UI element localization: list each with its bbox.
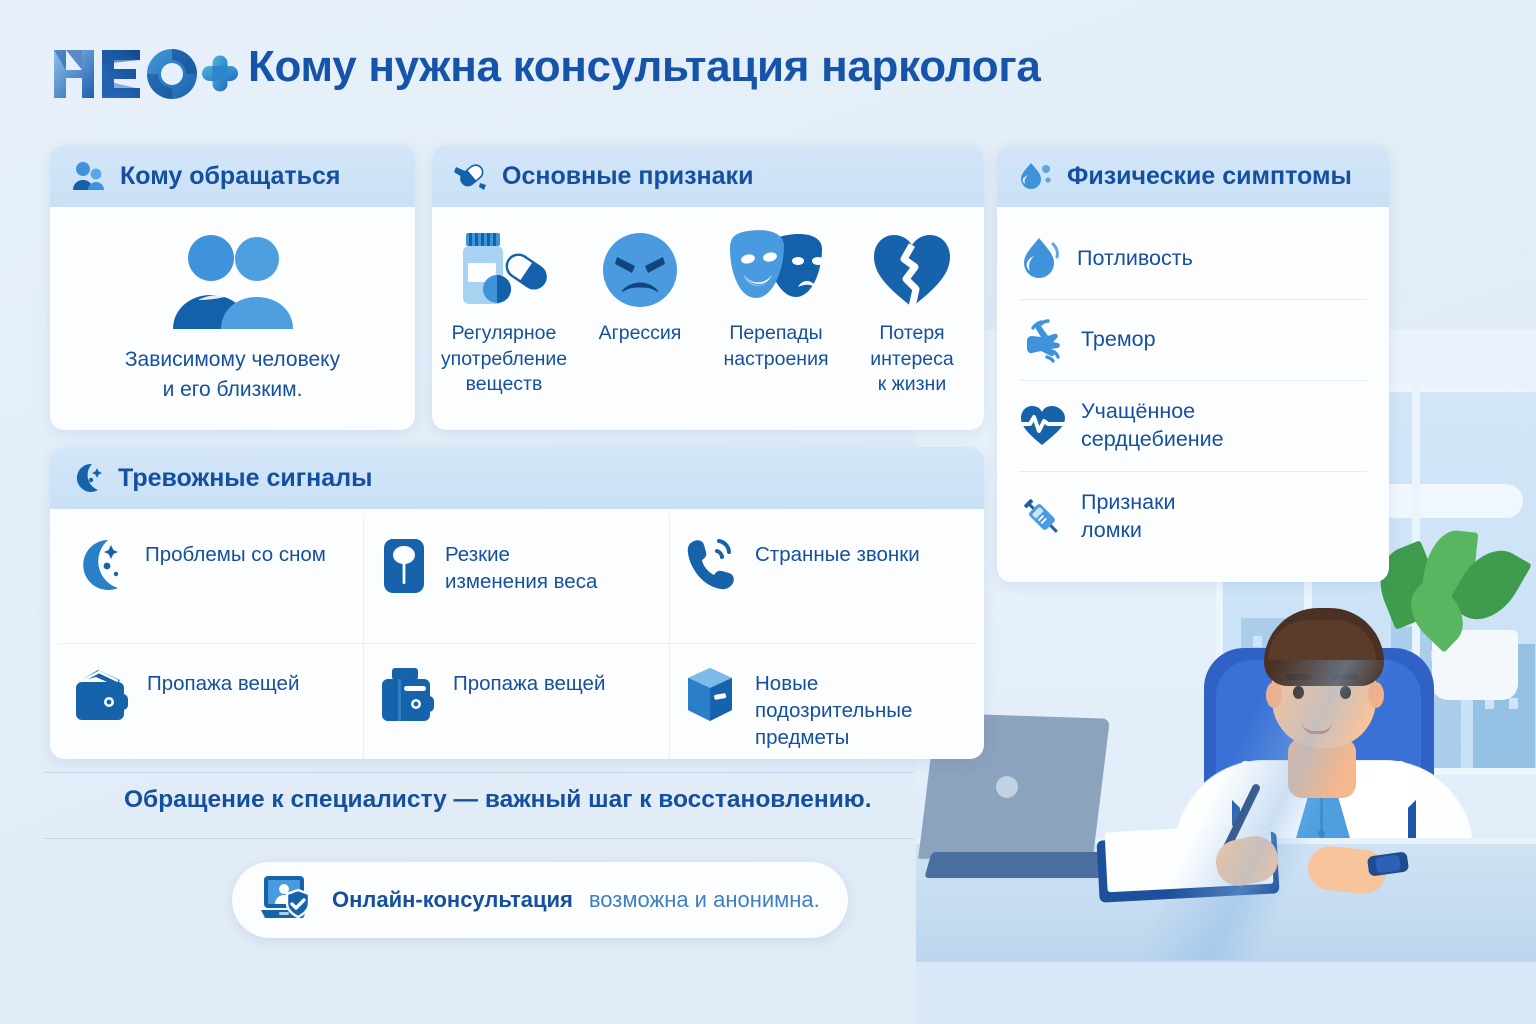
heart-pulse-icon xyxy=(1019,405,1065,447)
alarm-signal-label: Странные звонки xyxy=(755,537,920,568)
alarm-signal-label: Пропажа вещей xyxy=(147,666,299,697)
card-who-header: Кому обращаться xyxy=(50,145,415,207)
card-physical-header: Физические симптомы xyxy=(997,145,1389,207)
physical-symptom-row: Признаки ломки xyxy=(1019,471,1367,562)
footer-divider-bottom xyxy=(44,838,914,839)
card-signs-body: Регулярное употребление веществ Агрессия xyxy=(432,207,984,398)
laptop-logo xyxy=(996,776,1018,798)
online-consultation-badge[interactable]: Онлайн-консультация возможна и анонимна. xyxy=(232,862,848,938)
card-who-to-contact: Кому обращаться Зависимому человеку и ег… xyxy=(50,145,415,430)
physical-symptom-row: Тремор xyxy=(1019,299,1367,380)
sign-label: Агрессия xyxy=(599,321,682,347)
physical-symptom-row: Потливость xyxy=(1019,219,1367,299)
sign-item: Агрессия xyxy=(580,229,700,347)
card-who-caption: Зависимому человеку и его близким. xyxy=(125,345,340,406)
physical-symptom-label: Потливость xyxy=(1077,245,1193,273)
alarm-signal-label: Пропажа вещей xyxy=(453,666,605,697)
theater-masks-icon xyxy=(724,229,828,311)
pill-bottle-icon xyxy=(452,229,556,311)
alarm-signal-label: Новые подозрительные предметы xyxy=(755,666,912,751)
alarm-signal-cell: Пропажа вещей xyxy=(364,643,670,759)
package-box-icon xyxy=(684,666,740,724)
card-alarm-signals: Тревожные сигналы Проблемы со сном xyxy=(50,447,984,759)
online-consultation-bold-text: Онлайн-консультация xyxy=(332,887,573,913)
cloud-shape xyxy=(1373,484,1523,518)
footer-divider-top xyxy=(44,772,914,773)
water-drops-icon xyxy=(1019,161,1053,191)
footer-note: Обращение к специалисту — важный шаг к в… xyxy=(124,786,872,814)
alarm-signal-cell: Резкие изменения веса xyxy=(364,515,670,643)
card-who-caption-line2: и его близким. xyxy=(125,375,340,405)
infographic-canvas: Кому нужна консультация нарколога Кому о… xyxy=(0,0,1536,1024)
weight-scale-icon xyxy=(378,537,430,595)
alarm-signal-cell: Пропажа вещей xyxy=(58,643,364,759)
people-icon xyxy=(72,161,106,191)
card-physical-body: Потливость Тремор xyxy=(997,207,1389,572)
page-title: Кому нужна консультация нарколога xyxy=(248,42,1041,92)
alarm-signal-label: Проблемы со сном xyxy=(145,537,326,568)
sign-item: Потеря интереса к жизни xyxy=(852,229,972,398)
sign-item: Перепады настроения xyxy=(716,229,836,372)
physical-symptom-row: Учащённое сердцебиение xyxy=(1019,380,1367,471)
two-persons-icon xyxy=(165,233,301,329)
card-alarm-header: Тревожные сигналы xyxy=(50,447,984,509)
crescent-moon-icon xyxy=(72,462,104,494)
card-who-caption-line1: Зависимому человеку xyxy=(125,345,340,375)
card-who-title: Кому обращаться xyxy=(120,162,341,191)
physical-symptom-label: Учащённое сердцебиение xyxy=(1081,398,1224,454)
syringe-icon xyxy=(1019,494,1065,540)
alarm-signal-cell: Проблемы со сном xyxy=(58,515,364,643)
alarm-signal-label: Резкие изменения веса xyxy=(445,537,597,595)
shaking-hand-icon xyxy=(1019,317,1065,363)
sign-label: Потеря интереса к жизни xyxy=(870,321,954,398)
laptop-verified-user-icon xyxy=(260,874,316,926)
floor xyxy=(916,962,1536,1024)
brand-logo xyxy=(50,42,240,104)
phone-ringing-icon xyxy=(684,537,740,595)
closed-wallet-icon xyxy=(378,666,438,724)
alarm-signal-cell: Новые подозрительные предметы xyxy=(670,643,976,759)
card-physical-title: Физические симптомы xyxy=(1067,162,1352,191)
card-physical-symptoms: Физические симптомы Потливость xyxy=(997,145,1389,582)
physical-symptom-label: Признаки ломки xyxy=(1081,489,1176,545)
broken-heart-icon xyxy=(868,229,956,311)
moon-stars-icon xyxy=(72,537,130,595)
sign-item: Регулярное употребление веществ xyxy=(444,229,564,398)
sign-label: Регулярное употребление веществ xyxy=(441,321,567,398)
sign-label: Перепады настроения xyxy=(723,321,828,372)
physical-symptom-label: Тремор xyxy=(1081,326,1156,354)
alarm-signal-cell: Странные звонки xyxy=(670,515,976,643)
card-alarm-body: Проблемы со сном Резкие изменения веса xyxy=(50,509,984,759)
open-wallet-icon xyxy=(72,666,132,724)
header-bar: Кому нужна консультация нарколога xyxy=(0,0,1536,132)
card-who-body: Зависимому человеку и его близким. xyxy=(50,207,415,406)
angry-face-icon xyxy=(599,229,681,311)
neo-plus-logo-icon xyxy=(50,42,240,104)
card-alarm-title: Тревожные сигналы xyxy=(118,464,372,493)
droplet-icon xyxy=(1019,236,1061,282)
card-signs-title: Основные признаки xyxy=(502,162,753,191)
online-consultation-normal-text: возможна и анонимна. xyxy=(589,887,820,913)
pills-icon xyxy=(454,161,488,191)
card-main-signs: Основные признаки Регулярное xyxy=(432,145,984,430)
card-signs-header: Основные признаки xyxy=(432,145,984,207)
wristwatch-face xyxy=(1375,854,1401,873)
